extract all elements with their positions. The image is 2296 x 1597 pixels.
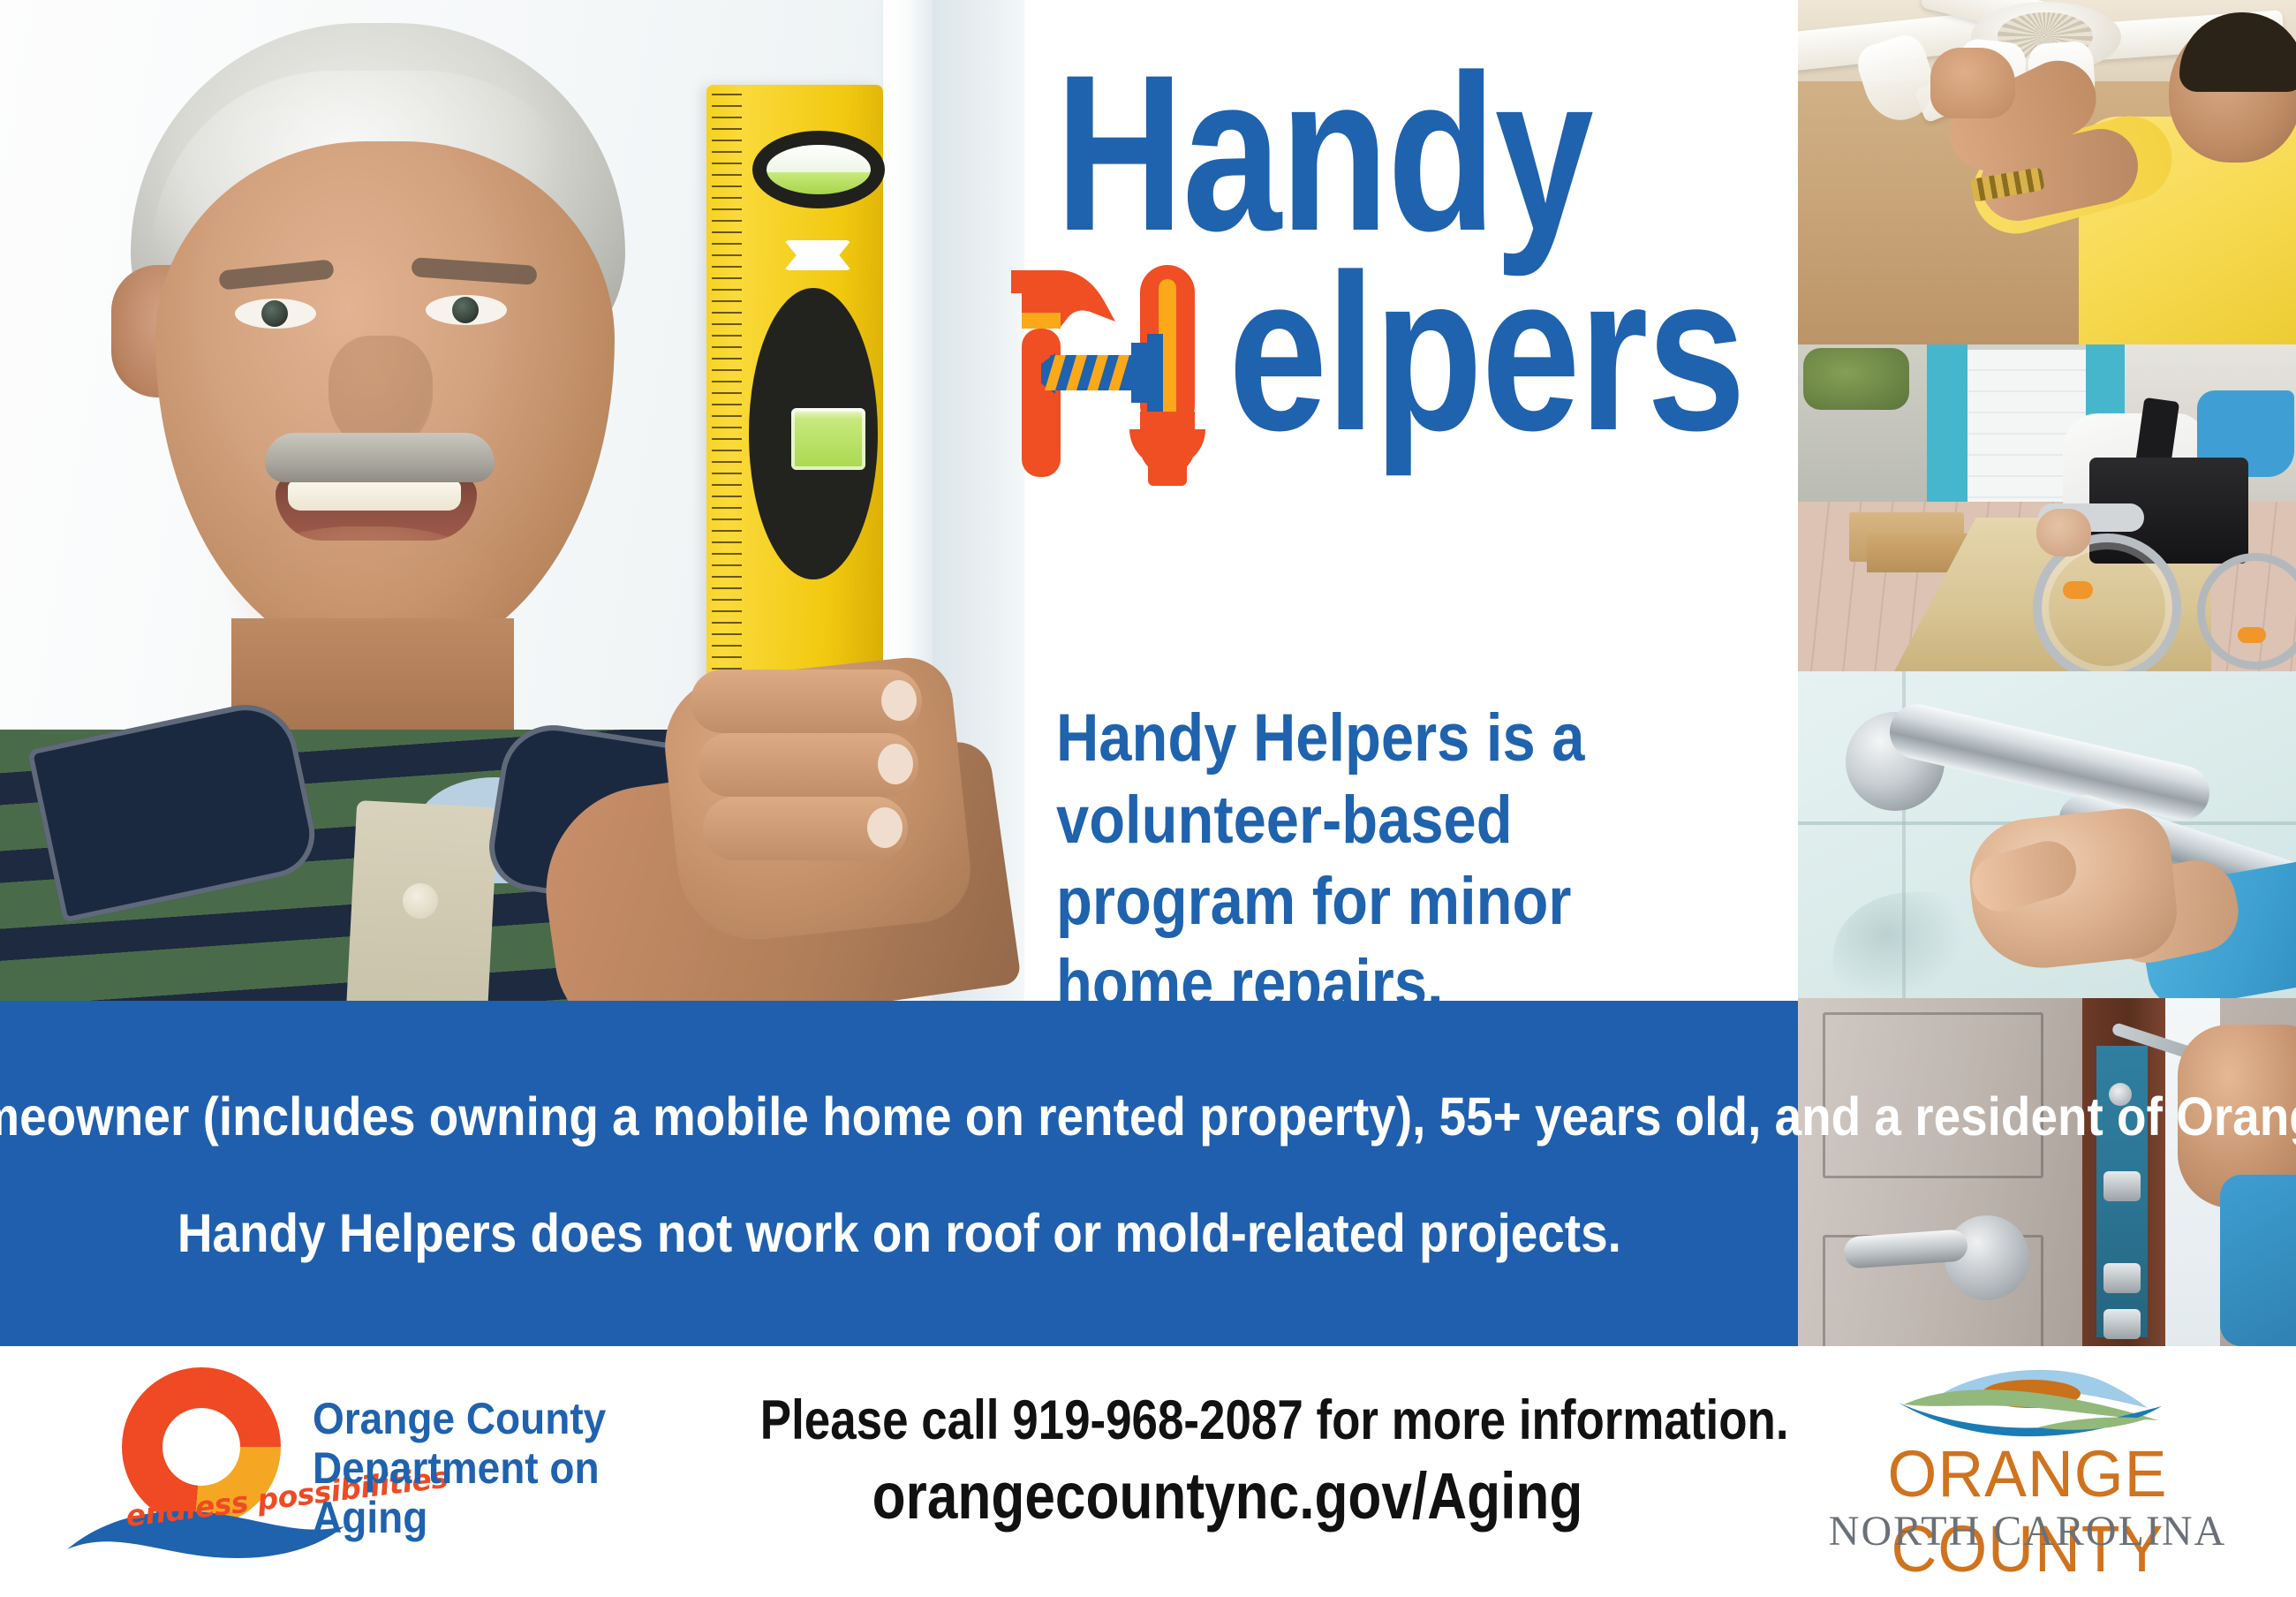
photo-grab-bar [1798,671,2296,998]
contact-block: Please call 919-968-2087 for more inform… [671,1389,1784,1534]
aging-logo-line2: Department on Aging [313,1443,622,1542]
man-finger [698,733,918,797]
county-landscape-mark-icon [1883,1367,2174,1438]
man-eye-left [235,299,316,329]
deadbolt [2103,1171,2141,1201]
hero-section: Handy [0,0,2296,1001]
man-teeth [288,481,461,511]
level-ruler-markings [712,94,742,707]
county-logo-line2: NORTH CAROLINA [1807,1507,2248,1555]
shrubbery [1803,348,1909,410]
eligibility-band: All labor is FREE. Must be a homeowner (… [0,1001,1798,1346]
person-hand [2036,509,2091,556]
headline-line-handy: Handy [1055,51,1649,256]
program-description: Handy Helpers is a volunteer-based progr… [1056,698,1678,1026]
volunteer-hand [1930,48,2015,118]
wheel-reflector [2063,581,2093,599]
tile-leaf-pattern [1833,892,1966,998]
exclusions-text: Handy Helpers does not work on roof or m… [177,1199,1620,1268]
headline-block: Handy [1055,51,1797,488]
torpedo-level-tool [706,85,883,717]
grab-bar [1884,699,2215,826]
website-url[interactable]: orangecountync.gov/Aging [760,1458,1695,1534]
main-photo-senior-man-with-level [0,0,1024,1001]
deadbolt [2103,1263,2141,1293]
level-bubble-vial-middle [749,288,878,579]
man-finger [691,670,922,733]
photo-wheelchair-ramp [1798,344,2296,671]
headline-text-elpers: elpers [1228,242,1744,465]
photo-door-lock-repair [1798,998,2296,1346]
level-bubble-vial-top [752,131,885,208]
eligibility-text: All labor is FREE. Must be a homeowner (… [0,1082,2296,1152]
aging-logo-line1: Orange County [313,1394,622,1443]
deadbolt [2103,1309,2141,1339]
tools-h-monogram-icon [1006,256,1244,488]
man-eye-right [426,295,507,325]
shirt-button [403,883,438,919]
department-on-aging-logo[interactable]: endless possibilities Orange County Depa… [104,1366,652,1578]
phone-line[interactable]: Please call 919-968-2087 for more inform… [760,1389,1695,1453]
man-finger [703,797,908,860]
photo-ceiling-fan-repair [1798,0,2296,344]
headline-line-helpers: elpers [1055,251,1797,488]
aging-logo-wordmark: Orange County Department on Aging [313,1394,622,1542]
wheel-reflector [2238,627,2266,643]
orange-county-nc-logo[interactable]: ORANGE COUNTY NORTH CAROLINA [1807,1367,2248,1579]
poster-canvas: Handy [0,0,2296,1597]
footer: endless possibilities Orange County Depa… [0,1346,2296,1597]
level-notch [784,240,851,270]
volunteer-blue-sleeve [2220,1175,2296,1346]
man-mustache [265,433,495,482]
